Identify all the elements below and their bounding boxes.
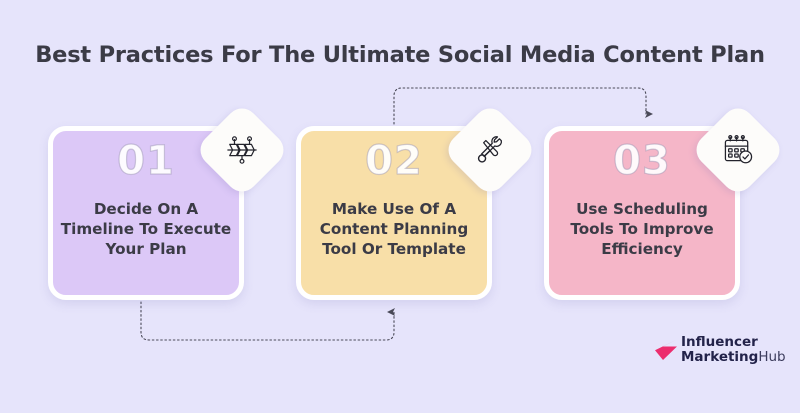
step-text-3: Use Scheduling Tools To Improve Efficien… — [555, 199, 729, 260]
brand-logo-marketing: Marketing — [681, 349, 758, 365]
calendar-check-icon — [704, 116, 772, 184]
icon-badge-2 — [442, 102, 538, 198]
brand-logo-line-1: Influencer — [681, 335, 786, 350]
connector-1-to-2 — [141, 302, 394, 340]
brand-logo-hub: Hub — [758, 349, 785, 365]
step-text-1: Decide On A Timeline To Execute Your Pla… — [59, 199, 233, 260]
brand-logo-line-2: MarketingHub — [681, 350, 786, 365]
brand-logo[interactable]: Influencer MarketingHub — [654, 335, 786, 364]
wrench-screwdriver-tools-icon — [456, 116, 524, 184]
step-text-2: Make Use Of A Content Planning Tool Or T… — [307, 199, 481, 260]
infographic-page: Best Practices For The Ultimate Social M… — [0, 0, 800, 413]
timeline-milestones-icon — [208, 116, 276, 184]
brand-logo-text: Influencer MarketingHub — [681, 335, 786, 364]
icon-badge-3 — [690, 102, 786, 198]
arrow-left-mark — [654, 337, 678, 363]
page-title: Best Practices For The Ultimate Social M… — [0, 42, 800, 68]
icon-badge-1 — [194, 102, 290, 198]
